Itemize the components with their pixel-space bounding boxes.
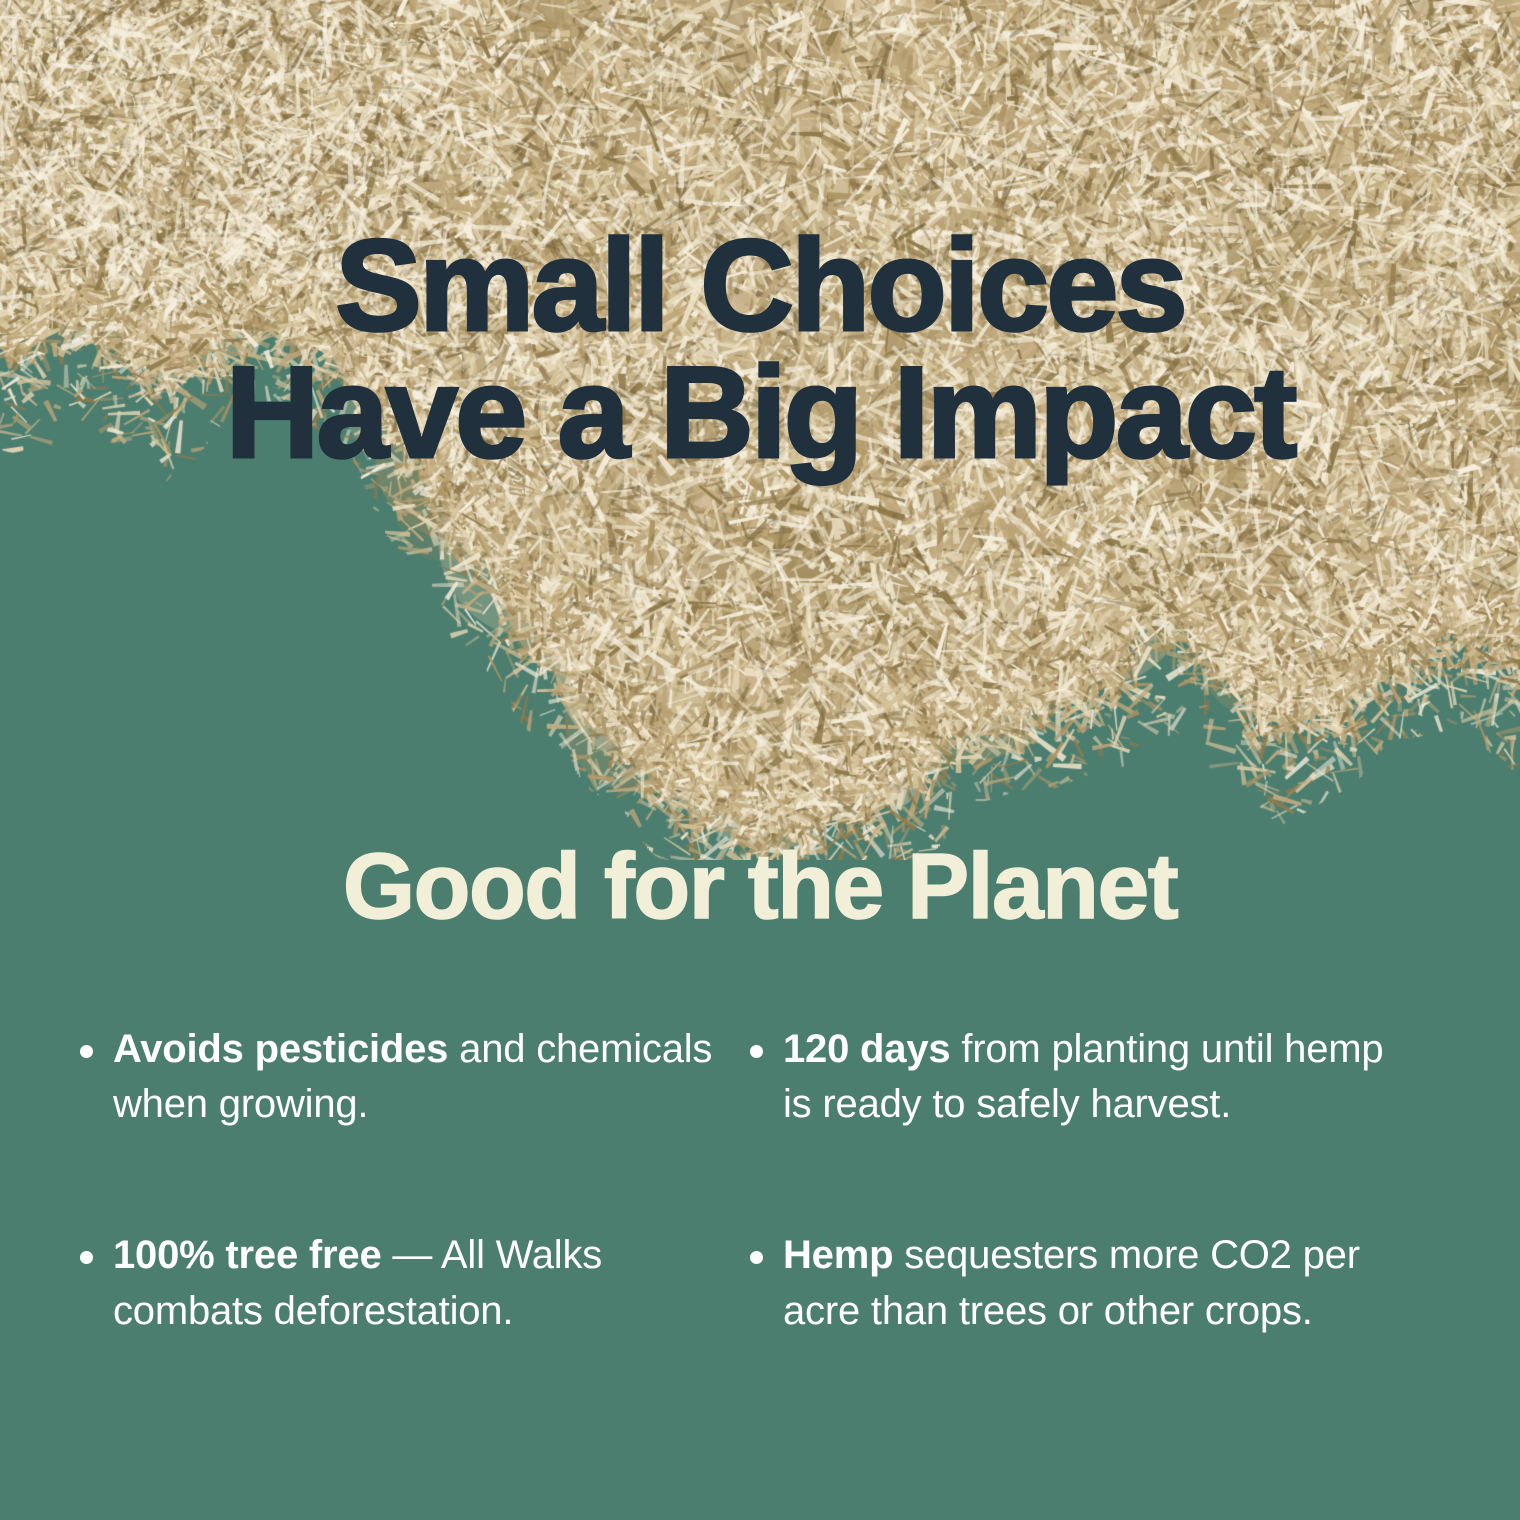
benefits-list: Avoids pesticides and chemicals when gro…	[80, 1022, 1440, 1339]
page-title: Small Choices Have a Big Impact	[0, 222, 1520, 477]
list-item: Avoids pesticides and chemicals when gro…	[80, 1022, 750, 1132]
bullet-dot-icon	[750, 1045, 763, 1058]
headline-line-1: Small Choices	[0, 222, 1520, 349]
list-item: 120 days from planting until hemp is rea…	[750, 1022, 1400, 1132]
benefit-lead: Hemp	[783, 1233, 893, 1277]
bullet-dot-icon	[80, 1251, 93, 1264]
benefit-text: Avoids pesticides and chemicals when gro…	[113, 1022, 750, 1132]
bullet-dot-icon	[750, 1251, 763, 1264]
benefit-text: 120 days from planting until hemp is rea…	[783, 1022, 1400, 1132]
bullet-dot-icon	[80, 1045, 93, 1058]
list-item: Hemp sequesters more CO2 per acre than t…	[750, 1228, 1400, 1338]
benefit-lead: 100% tree free	[113, 1233, 382, 1277]
hemp-benefits-infographic: Small Choices Have a Big Impact Good for…	[0, 0, 1520, 1520]
headline-line-2: Have a Big Impact	[0, 349, 1520, 476]
section-subtitle: Good for the Planet	[0, 838, 1520, 936]
benefit-lead: 120 days	[783, 1027, 950, 1071]
benefit-text: Hemp sequesters more CO2 per acre than t…	[783, 1228, 1400, 1338]
benefit-text: 100% tree free — All Walks combats defor…	[113, 1228, 750, 1338]
benefit-lead: Avoids pesticides	[113, 1027, 448, 1071]
list-item: 100% tree free — All Walks combats defor…	[80, 1228, 750, 1338]
